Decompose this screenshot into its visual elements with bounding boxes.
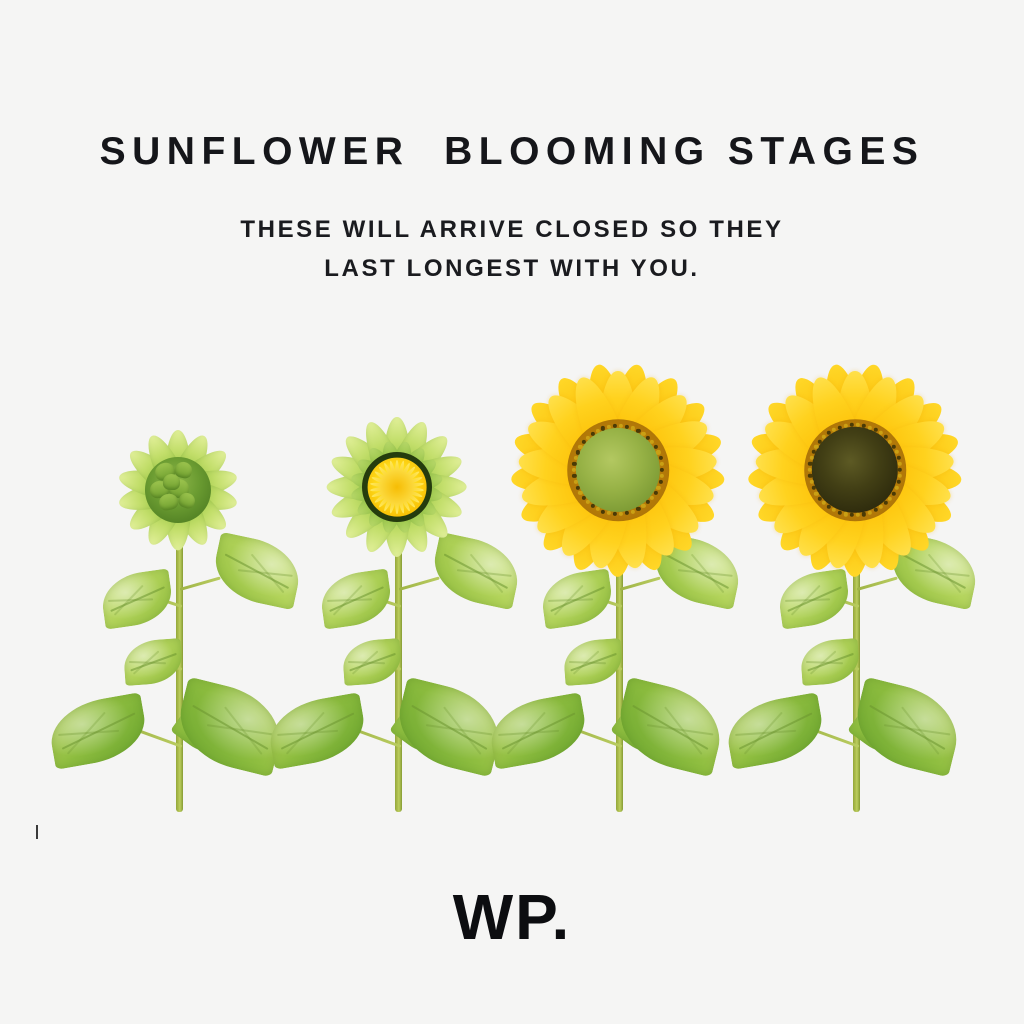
leaf-lower-left	[722, 692, 827, 770]
brand-logo: WP.	[0, 880, 1024, 954]
leaf-lower-left	[485, 692, 590, 770]
leaf-stalk	[620, 576, 661, 590]
leaf-lower-left	[264, 692, 369, 770]
flower-head-open	[747, 362, 963, 578]
corner-tick-mark	[36, 825, 38, 839]
leaf-upper-left	[99, 568, 176, 629]
leaf-lower-right	[847, 677, 967, 778]
leaf-mid-left	[342, 638, 403, 686]
leaf-mid-left	[123, 638, 184, 686]
plant-stem	[853, 560, 860, 812]
plant-stem	[395, 540, 402, 812]
leaf-mid-left	[563, 638, 624, 686]
poster-canvas: SUNFLOWER BLOOMING STAGES THESE WILL ARR…	[0, 0, 1024, 1024]
flower-head-open	[510, 362, 726, 578]
flower-head-opening	[327, 417, 467, 557]
sunflower-plant-stage-4	[705, 0, 1005, 1024]
bud-scale	[163, 474, 181, 490]
flower-head-bud	[119, 431, 237, 549]
flower-disc	[576, 428, 660, 512]
leaf-lower-left	[45, 692, 150, 770]
plant-stem	[616, 560, 623, 812]
leaf-stalk	[399, 576, 440, 590]
leaf-stalk	[857, 576, 898, 590]
leaf-upper-left	[318, 568, 395, 629]
leaf-mid-left	[800, 638, 861, 686]
leaf-stalk	[180, 576, 221, 590]
